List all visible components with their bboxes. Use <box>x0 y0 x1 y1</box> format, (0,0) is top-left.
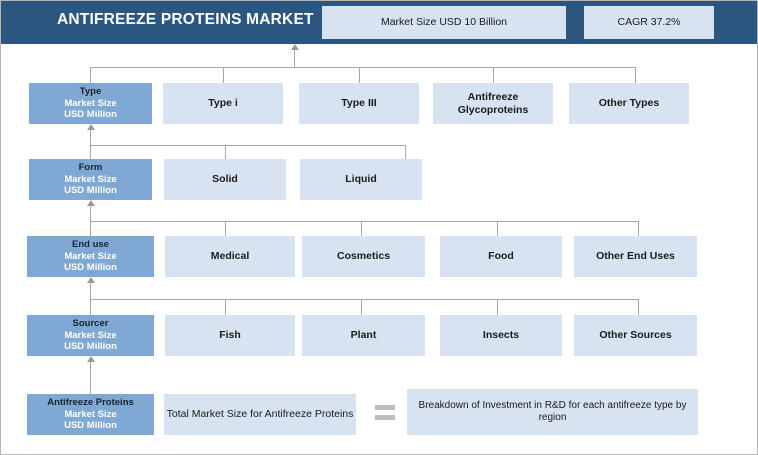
connector-drop-type-0 <box>223 67 224 83</box>
connector-drop-enduse-label <box>90 221 91 236</box>
segment-label-form-line2: Market Size <box>64 174 116 186</box>
connector-drop-type-1 <box>359 67 360 83</box>
connector-horizontal-form <box>90 145 405 146</box>
connector-drop-form-0 <box>225 145 226 159</box>
segment-label-enduse: End use Market Size USD Million <box>27 236 154 277</box>
page-title: ANTIFREEZE PROTEINS MARKET <box>57 11 307 29</box>
segment-label-sourcer: Sourcer Market Size USD Million <box>27 315 154 356</box>
segment-item-form-1: Liquid <box>300 159 422 200</box>
footer-total-market-box: Total Market Size for Antifreeze Protein… <box>164 394 356 435</box>
segment-label-type-line2: Market Size <box>64 98 116 110</box>
segment-item-type-0: Type i <box>163 83 283 124</box>
segment-label-sourcer-line1: Sourcer <box>73 318 109 330</box>
connector-drop-form-1 <box>405 145 406 159</box>
connector-drop-sourcer-0 <box>225 299 226 315</box>
segment-item-type-2: Antifreeze Glycoproteins <box>433 83 553 124</box>
market-size-chip: Market Size USD 10 Billion <box>322 6 566 39</box>
segment-label-type-line3: USD Million <box>64 109 117 121</box>
segment-item-sourcer-0: Fish <box>165 315 295 356</box>
connector-drop-enduse-0 <box>225 221 226 236</box>
market-segmentation-diagram: ANTIFREEZE PROTEINS MARKET Market Size U… <box>0 0 758 455</box>
connector-drop-form-label <box>90 145 91 159</box>
footer-label-line2: Market Size <box>64 409 116 421</box>
segment-label-form-line3: USD Million <box>64 185 117 197</box>
footer-breakdown-box: Breakdown of Investment in R&D for each … <box>407 389 698 435</box>
footer-label-line1: Antifreeze Proteins <box>47 397 134 409</box>
segment-item-enduse-0: Medical <box>165 236 295 277</box>
arrow-enduse-to-form <box>90 205 91 221</box>
segment-label-type: Type Market Size USD Million <box>29 83 152 124</box>
connector-drop-type-label <box>90 67 91 83</box>
segment-item-enduse-3: Other End Uses <box>574 236 697 277</box>
cagr-chip: CAGR 37.2% <box>584 6 714 39</box>
segment-label-form-line1: Form <box>79 162 103 174</box>
arrow-to-header <box>294 49 295 67</box>
arrow-form-to-type <box>90 129 91 145</box>
connector-drop-sourcer-2 <box>497 299 498 315</box>
segment-label-enduse-line3: USD Million <box>64 262 117 274</box>
segment-label-enduse-line1: End use <box>72 239 109 251</box>
connector-drop-sourcer-3 <box>638 299 639 315</box>
segment-label-enduse-line2: Market Size <box>64 251 116 263</box>
footer-label-antifreeze-proteins: Antifreeze Proteins Market Size USD Mill… <box>27 394 154 435</box>
arrow-total-to-sourcer <box>90 361 91 394</box>
connector-horizontal-enduse <box>90 221 638 222</box>
arrow-sourcer-to-enduse <box>90 282 91 299</box>
connector-horizontal-sourcer <box>90 299 638 300</box>
equals-icon <box>375 405 395 425</box>
segment-item-type-1: Type III <box>299 83 419 124</box>
segment-item-form-0: Solid <box>164 159 286 200</box>
segment-item-enduse-1: Cosmetics <box>302 236 425 277</box>
segment-item-enduse-2: Food <box>440 236 562 277</box>
connector-drop-sourcer-1 <box>361 299 362 315</box>
footer-label-line3: USD Million <box>64 420 117 432</box>
connector-drop-type-2 <box>493 67 494 83</box>
connector-drop-enduse-2 <box>497 221 498 236</box>
segment-item-sourcer-1: Plant <box>302 315 425 356</box>
segment-item-type-3: Other Types <box>569 83 689 124</box>
segment-label-form: Form Market Size USD Million <box>29 159 152 200</box>
connector-horizontal-type <box>90 67 635 68</box>
segment-label-sourcer-line2: Market Size <box>64 330 116 342</box>
segment-item-sourcer-2: Insects <box>440 315 562 356</box>
connector-drop-sourcer-label <box>90 299 91 315</box>
segment-label-sourcer-line3: USD Million <box>64 341 117 353</box>
connector-drop-enduse-3 <box>638 221 639 236</box>
segment-label-type-line1: Type <box>80 86 101 98</box>
connector-drop-enduse-1 <box>361 221 362 236</box>
segment-item-sourcer-3: Other Sources <box>574 315 697 356</box>
connector-drop-type-3 <box>635 67 636 83</box>
